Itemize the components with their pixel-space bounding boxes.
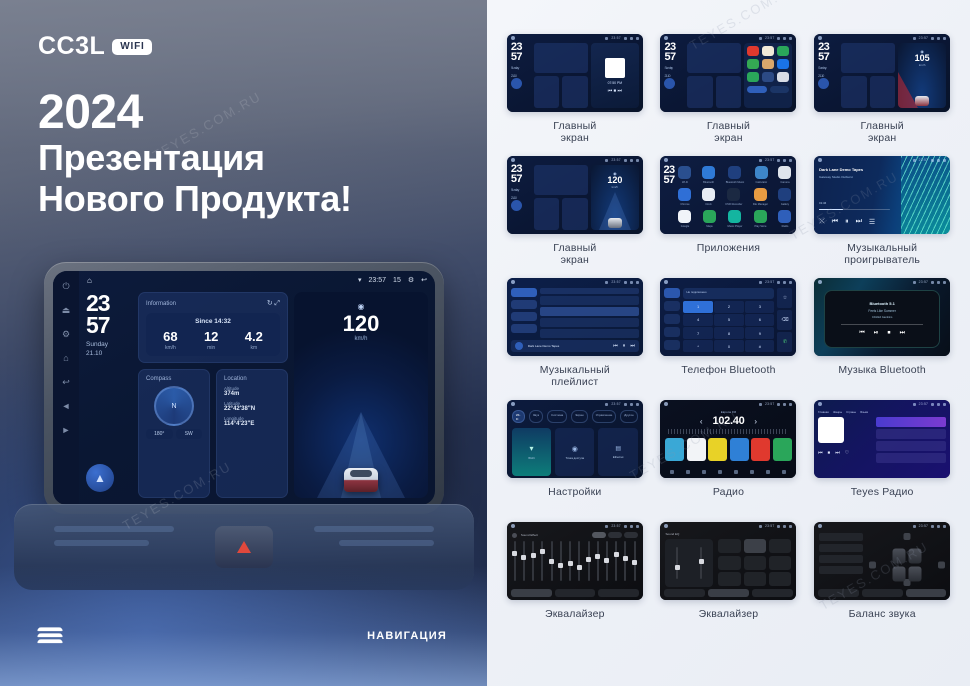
location-card[interactable]	[716, 76, 742, 108]
dialpad-key[interactable]: 2	[714, 301, 743, 313]
information-card[interactable]	[534, 43, 588, 73]
wifi-icon	[759, 525, 762, 528]
screen-thumbnail-settings[interactable]: Wi-Fi Звук Система Экран Управление Друг…	[507, 400, 643, 478]
back-icon	[943, 403, 946, 406]
dialpad-key[interactable]: 6	[745, 314, 774, 326]
next-icon[interactable]: ⏭	[835, 450, 840, 456]
hazard-button[interactable]	[215, 526, 273, 568]
favorite-icon[interactable]: ♡	[845, 450, 849, 456]
volume-down-icon[interactable]: ◄	[61, 401, 72, 412]
tab-system[interactable]: Система	[547, 410, 567, 423]
app-icon-camera[interactable]	[778, 166, 791, 179]
eq-slider[interactable]	[615, 541, 617, 581]
list-item[interactable]	[540, 329, 639, 338]
mode-pills[interactable]	[592, 532, 638, 538]
head-unit-bezel: ⏻ ⏏ ⚙ ⌂ ↩ ◄ ► ⌂ ▾ 23:57 15	[44, 262, 444, 514]
app-icon-bluetooth[interactable]	[702, 166, 715, 179]
thumbnail-caption: Музыкальный проигрыватель	[844, 242, 920, 266]
navigation-arrow-icon[interactable]: ▲	[86, 464, 114, 492]
app-icon-clock[interactable]	[702, 188, 715, 201]
next-station-icon[interactable]: ›	[754, 417, 757, 426]
preset-button[interactable]	[718, 539, 741, 553]
preset-station[interactable]	[687, 438, 706, 461]
gallery-item[interactable]: Bluetooth 5.1 Feels Like Summer Childish…	[812, 278, 952, 396]
compass-direction: SW	[176, 429, 203, 439]
dialpad-key[interactable]: 4	[683, 314, 712, 326]
footer-tab-balance[interactable]	[906, 589, 947, 597]
dialpad-key[interactable]: 0	[714, 340, 743, 352]
tab-controls[interactable]: Управление	[592, 410, 617, 423]
status-time: 23:57	[611, 524, 621, 528]
setting-card-ethernet[interactable]: ▤ Ethernet	[598, 428, 637, 476]
wifi-icon	[759, 281, 762, 284]
scan-icon[interactable]	[750, 470, 754, 474]
preset-station[interactable]	[773, 438, 792, 461]
gear-icon	[630, 159, 633, 162]
preset-button[interactable]	[769, 556, 792, 570]
tab-wifi[interactable]: Wi-Fi	[512, 410, 525, 423]
app-icon[interactable]	[747, 59, 759, 69]
gallery-item[interactable]: Европа FM ‹ 102.40 ›	[659, 400, 799, 518]
app-icon[interactable]	[747, 46, 759, 56]
seat	[893, 566, 906, 581]
location-card[interactable]	[562, 198, 588, 230]
compass-card[interactable]: Compass N 180° SW	[138, 369, 210, 498]
compass-card[interactable]	[841, 76, 867, 108]
sidebar-item-history[interactable]	[664, 327, 680, 337]
speed-widget[interactable]: ◉ 105 km/h	[898, 43, 946, 108]
app-icon-bluetooth-music[interactable]	[728, 166, 741, 179]
eq-slider[interactable]	[523, 541, 525, 581]
next-icon[interactable]: ⏭	[900, 330, 905, 337]
eq-slider[interactable]	[551, 541, 553, 581]
screen-thumbnail-home-apps[interactable]: 23 57 Sunday 21.10	[660, 34, 796, 112]
refresh-icon[interactable]: ↻	[267, 300, 273, 307]
station-list[interactable]	[876, 417, 946, 463]
previous-icon[interactable]: ⏮	[818, 450, 823, 456]
fader-slider[interactable]	[676, 547, 678, 579]
home-icon[interactable]	[818, 280, 822, 284]
screen-thumbnail-applications[interactable]: 23 57 Wi-Fi Bluetooth Bluetooth Music Ca…	[660, 156, 796, 234]
home-icon[interactable]	[511, 280, 515, 284]
headline-year: 2024	[38, 88, 458, 138]
next-icon[interactable]: ⏭	[856, 218, 862, 226]
app-icon-google[interactable]	[678, 210, 691, 223]
nav-item[interactable]: Жанры	[833, 410, 842, 414]
compass-card[interactable]	[687, 76, 713, 108]
play-pause-icon[interactable]: ⏯	[874, 330, 879, 337]
list-icon[interactable]: ☰	[869, 218, 875, 226]
dashboard-vent-panel	[14, 504, 474, 590]
footer-tab-effect[interactable]	[818, 589, 859, 597]
footer-tab-balance[interactable]	[598, 589, 639, 597]
ethernet-icon: ▤	[615, 445, 621, 452]
app-icon-maps[interactable]	[703, 210, 716, 223]
pause-icon[interactable]: ⏸	[845, 218, 849, 226]
speed-widget[interactable]: ◉ 120 km/h	[591, 165, 639, 230]
fader-panel[interactable]	[665, 539, 713, 587]
home-icon[interactable]: ⌂	[87, 276, 92, 285]
status-time: 23:57	[611, 280, 621, 284]
teyes-now-playing: ⏮ ⏹ ⏭ ♡	[818, 417, 872, 463]
mode-pop[interactable]	[592, 532, 606, 538]
preset-button[interactable]	[769, 572, 792, 586]
speed-value: 120	[343, 313, 380, 335]
compass-card[interactable]	[534, 198, 560, 230]
dialpad[interactable]: 1 2 3 4 5 6 7 8 9 * 0 #	[683, 301, 774, 352]
track-time: 07:50 PM	[608, 81, 623, 85]
equalizer-sliders[interactable]	[512, 541, 638, 581]
information-card[interactable]	[687, 43, 741, 73]
next-icon[interactable]: ⏭	[630, 343, 635, 349]
gallery-item[interactable]: Sound EQ	[659, 522, 799, 640]
footer-tab-effect[interactable]	[511, 589, 552, 597]
home-icon[interactable]	[664, 280, 668, 284]
home-icon[interactable]	[511, 524, 515, 528]
volume-up-icon[interactable]: ►	[61, 425, 72, 436]
playback-controls[interactable]: ⤬ ⏮ ⏸ ⏭ ☰	[819, 218, 875, 226]
wifi-icon	[605, 281, 608, 284]
dialpad-key[interactable]: 1	[683, 301, 712, 313]
information-card[interactable]	[534, 165, 588, 195]
frequency-scale[interactable]	[668, 429, 788, 434]
navigation-arrow-icon[interactable]	[818, 78, 829, 89]
screen-thumbnail-equalizer-bands[interactable]: Sound Effect	[507, 522, 643, 600]
list-icon[interactable]	[702, 470, 706, 474]
dock-button[interactable]	[770, 86, 790, 93]
expand-icon[interactable]: ⤢	[274, 300, 280, 307]
status-time: 23:57	[765, 36, 775, 40]
screen-thumbnail-home-media[interactable]: 23 57 Sunday 21.10	[507, 34, 643, 112]
footer-tab-eq[interactable]	[708, 589, 749, 597]
settings-tabs[interactable]: Wi-Fi Звук Система Экран Управление Друг…	[512, 410, 638, 423]
eq-slider[interactable]	[560, 541, 562, 581]
wifi-icon	[605, 525, 608, 528]
eq-slider[interactable]	[588, 541, 590, 581]
app-icon-file-manager[interactable]	[754, 188, 767, 201]
mode-rock[interactable]	[608, 532, 622, 538]
eq-slider[interactable]	[624, 541, 626, 581]
fader-slider[interactable]	[700, 547, 702, 579]
pause-icon[interactable]: ⏸	[623, 343, 626, 349]
sidebar-item-favorites[interactable]	[511, 312, 537, 321]
screen-thumbnail-radio[interactable]: Европа FM ‹ 102.40 ›	[660, 400, 796, 478]
radio-toolbar[interactable]	[664, 468, 792, 475]
list-item[interactable]	[540, 318, 639, 327]
app-icon-music-player[interactable]	[728, 210, 741, 223]
playback-controls[interactable]: ⏮ ⏯ ⏹ ⏭	[859, 330, 905, 337]
gear-icon	[937, 403, 940, 406]
location-card[interactable]	[870, 76, 896, 108]
dialpad-key[interactable]: 7	[683, 327, 712, 339]
volume-icon	[624, 525, 627, 528]
backspace-icon[interactable]: ⌫	[777, 310, 792, 330]
vent-slot	[54, 540, 149, 546]
equalizer-footer[interactable]	[511, 589, 639, 597]
sidebar-item-settings[interactable]	[664, 340, 680, 350]
app-icon-radio[interactable]	[778, 210, 791, 223]
now-playing-bar[interactable]: Dark Lane Demo Tapes ⏮ ⏸ ⏭	[511, 340, 639, 352]
footer-tab-eq[interactable]	[862, 589, 903, 597]
band-icon[interactable]	[670, 470, 674, 474]
stop-icon[interactable]: ⏹	[888, 330, 891, 337]
gallery-item[interactable]: 23 57 Sunday 21.10	[812, 34, 952, 152]
app-icon[interactable]	[777, 46, 789, 56]
shuffle-icon[interactable]: ⤬	[819, 218, 825, 226]
gallery-item[interactable]: Sound Effect	[505, 522, 645, 640]
screen-thumbnail-home-speed[interactable]: 23 57 Sunday 21.10	[507, 156, 643, 234]
seat	[893, 548, 906, 563]
location-card[interactable]: Location Altitude 374m Latitude 22°42'38…	[216, 369, 288, 498]
progress-bar[interactable]	[841, 324, 923, 325]
sidebar-item-search[interactable]	[664, 314, 680, 324]
mode-jazz[interactable]	[624, 532, 638, 538]
home-icon[interactable]	[511, 36, 515, 40]
home-icon[interactable]: ⌂	[61, 353, 72, 364]
tab-sound[interactable]: Звук	[529, 410, 543, 423]
app-icon[interactable]	[762, 59, 774, 69]
rds-icon[interactable]	[734, 470, 738, 474]
eq-slider[interactable]	[532, 541, 534, 581]
seat	[909, 548, 922, 563]
nav-item[interactable]: Страны	[846, 410, 856, 414]
gallery-item[interactable]: 23 57 Sunday 21.10	[659, 34, 799, 152]
gallery-item[interactable]: Главная Жанры Страны Языки ⏮ ⏹	[812, 400, 952, 518]
footer-tab-balance[interactable]	[752, 589, 793, 597]
app-icon-chrome[interactable]	[678, 188, 691, 201]
screen-thumbnail-equalizer-presets[interactable]: Sound EQ	[660, 522, 796, 600]
back-icon	[789, 37, 792, 40]
app-icon-calculator[interactable]	[755, 166, 768, 179]
gear-icon	[937, 281, 940, 284]
screen-thumbnail-home-drive[interactable]: 23 57 Sunday 21.10	[814, 34, 950, 112]
speed-panel[interactable]: ◉ 120 km/h	[294, 292, 428, 498]
dialpad-key[interactable]: 3	[745, 301, 774, 313]
app-shortcuts-widget[interactable]	[744, 43, 792, 108]
preset-button[interactable]	[744, 572, 767, 586]
information-card[interactable]: Information ↻ ⤢ Since 14:32	[138, 292, 288, 363]
power-icon[interactable]: ⏻	[61, 281, 72, 292]
eq-slider[interactable]	[606, 541, 608, 581]
track-subtitle: Gateway Studio Outburst	[819, 175, 898, 179]
eq-slider[interactable]	[578, 541, 580, 581]
app-icon[interactable]	[762, 72, 774, 82]
gallery-item[interactable]: Wi-Fi Звук Система Экран Управление Друг…	[505, 400, 645, 518]
preset-station[interactable]	[751, 438, 770, 461]
preset-station[interactable]	[730, 438, 749, 461]
preset-button[interactable]	[769, 539, 792, 553]
gear-icon	[630, 37, 633, 40]
previous-station-icon[interactable]: ‹	[700, 417, 703, 426]
headline-line1: Презентация	[38, 138, 458, 178]
preset-label: Sound Effect	[521, 533, 538, 537]
home-icon[interactable]	[664, 158, 668, 162]
gallery-item[interactable]: 23 57 Sunday 21.10	[505, 156, 645, 274]
back-icon[interactable]: ↩	[421, 276, 427, 284]
arrow-up-icon[interactable]	[904, 533, 911, 540]
eq-slider[interactable]	[634, 541, 636, 581]
screen-thumbnail-music-bluetooth[interactable]: Bluetooth 5.1 Feels Like Summer Childish…	[814, 278, 950, 356]
eq-slider[interactable]	[541, 541, 543, 581]
eq-slider[interactable]	[569, 541, 571, 581]
apps-row: Google Maps Music Player Play Store Radi…	[678, 210, 791, 228]
volume-icon	[931, 159, 934, 162]
home-icon[interactable]	[818, 524, 822, 528]
compass-card[interactable]	[534, 76, 560, 108]
back-icon	[789, 281, 792, 284]
arrow-right-icon[interactable]	[938, 561, 945, 568]
nav-item[interactable]: Главная	[818, 410, 829, 414]
gallery-item[interactable]: Не подключено 1 2 3 4 5 6 7 8	[659, 278, 799, 396]
home-icon[interactable]	[818, 158, 822, 162]
setting-card-wifi[interactable]: ▾ Wi-Fi	[512, 428, 551, 476]
dock-button[interactable]	[747, 86, 767, 93]
apps-row: Chrome Clock DVR Recorder File Manager G…	[678, 188, 791, 206]
wifi-icon	[913, 37, 916, 40]
app-icon-play-store[interactable]	[754, 210, 767, 223]
gallery-item[interactable]: Dark Lane Demo Tapes ⏮ ⏸ ⏭ 23:57 Музыкал…	[505, 278, 645, 396]
playlist-tabs[interactable]	[540, 288, 639, 294]
media-controls[interactable]: ⏮ ⏹ ⏭	[608, 88, 622, 94]
headline-block: 2024 Презентация Нового Продукта!	[38, 88, 458, 219]
stat-item: 12 min	[204, 330, 218, 351]
eq-slider[interactable]	[597, 541, 599, 581]
back-icon[interactable]: ↩	[61, 377, 72, 388]
favorite-icon[interactable]: ☆	[777, 288, 792, 308]
gallery-item[interactable]: 23 57 Wi-Fi Bluetooth Bluetooth Music Ca…	[659, 156, 799, 274]
app-icon[interactable]	[762, 46, 774, 56]
list-item[interactable]	[876, 429, 946, 439]
app-icon[interactable]	[777, 72, 789, 82]
gallery-item[interactable]: 23:57 Баланс звука	[812, 522, 952, 640]
dialpad-key[interactable]: 5	[714, 314, 743, 326]
previous-icon[interactable]: ⏮	[613, 343, 618, 349]
information-card[interactable]	[841, 43, 895, 73]
teyes-radio-navbar[interactable]: Главная Жанры Страны Языки	[818, 410, 946, 414]
screens-grid: 23 57 Sunday 21.10	[505, 34, 952, 640]
stop-icon[interactable]: ⏹	[828, 450, 831, 456]
longitude-value: 114°4'23"E	[224, 421, 280, 427]
search-icon[interactable]	[686, 470, 690, 474]
dialpad-key[interactable]: 9	[745, 327, 774, 339]
previous-icon[interactable]: ⏮	[832, 218, 838, 226]
side-button-rail[interactable]: ⏻ ⏏ ⚙ ⌂ ↩ ◄ ►	[53, 271, 79, 505]
home-icon[interactable]	[664, 36, 668, 40]
preset-button[interactable]	[744, 556, 767, 570]
preset-station[interactable]	[708, 438, 727, 461]
preset-station[interactable]	[665, 438, 684, 461]
equalizer-footer[interactable]	[664, 589, 792, 597]
thumbnail-caption: Эквалайзер	[699, 608, 759, 620]
sidebar-item-all[interactable]	[511, 300, 537, 309]
equalizer-footer[interactable]	[818, 589, 946, 597]
app-icon-gallery[interactable]	[778, 188, 791, 201]
list-item[interactable]	[876, 453, 946, 463]
call-icon[interactable]: ✆	[777, 332, 792, 352]
home-icon[interactable]	[818, 402, 822, 406]
screen-thumbnail-music-playlist[interactable]: Dark Lane Demo Tapes ⏮ ⏸ ⏭ 23:57	[507, 278, 643, 356]
home-icon[interactable]	[664, 402, 668, 406]
home-icon[interactable]	[511, 402, 515, 406]
balance-stage[interactable]	[869, 533, 945, 596]
eq-slider[interactable]	[514, 541, 516, 581]
media-widget[interactable]: 07:50 PM ⏮ ⏹ ⏭	[591, 43, 639, 108]
app-icon-dvr[interactable]	[727, 188, 740, 201]
list-item[interactable]	[540, 307, 639, 316]
playback-controls[interactable]: ⏮ ⏹ ⏭ ♡	[818, 450, 872, 456]
footer-tab-effect[interactable]	[664, 589, 705, 597]
gear-icon[interactable]	[766, 470, 770, 474]
screen-thumbnail-music-player[interactable]: Dark Lane Demo Tapes Gateway Studio Outb…	[814, 156, 950, 234]
sidebar-item-folders[interactable]	[511, 324, 537, 333]
gallery-item[interactable]: 23 57 Sunday 21.10	[505, 34, 645, 152]
gear-icon	[937, 159, 940, 162]
preset-button[interactable]	[718, 572, 741, 586]
back-icon	[943, 159, 946, 162]
dialpad-key[interactable]: #	[745, 340, 774, 352]
compass-north-label: N	[171, 403, 176, 410]
preset-buttons[interactable]	[718, 539, 791, 587]
album-art	[818, 417, 844, 443]
power-icon[interactable]	[782, 470, 786, 474]
app-icon[interactable]	[777, 59, 789, 69]
preset-button[interactable]	[744, 539, 767, 553]
dialpad-key[interactable]: 8	[714, 327, 743, 339]
navigation-arrow-icon[interactable]	[511, 78, 522, 89]
sidebar-item-tracks[interactable]	[511, 288, 537, 297]
app-icon[interactable]	[747, 72, 759, 82]
stat-value: 68	[163, 330, 177, 343]
home-icon[interactable]	[818, 36, 822, 40]
equalizer-icon[interactable]	[718, 470, 722, 474]
apps-row: Wi-Fi Bluetooth Bluetooth Music Calculat…	[678, 166, 791, 184]
gallery-item[interactable]: Dark Lane Demo Tapes Gateway Studio Outb…	[812, 156, 952, 274]
wifi-icon	[913, 525, 916, 528]
screen-thumbnail-phone-bluetooth[interactable]: Не подключено 1 2 3 4 5 6 7 8	[660, 278, 796, 356]
screen-thumbnail-sound-balance[interactable]: 23:57	[814, 522, 950, 600]
gear-icon[interactable]: ⚙	[61, 329, 72, 340]
tab-other[interactable]: Другое	[620, 410, 638, 423]
screen-thumbnail-teyes-radio[interactable]: Главная Жанры Страны Языки ⏮ ⏹	[814, 400, 950, 478]
station-presets[interactable]	[665, 438, 791, 461]
list-item[interactable]	[876, 417, 946, 427]
preset-button[interactable]	[718, 556, 741, 570]
navigation-arrow-icon[interactable]	[511, 200, 522, 211]
progress-bar[interactable]	[819, 209, 890, 211]
arrow-left-icon[interactable]	[869, 561, 876, 568]
dialpad-key[interactable]: *	[683, 340, 712, 352]
gear-icon[interactable]: ⚙	[408, 276, 414, 284]
list-item[interactable]	[540, 296, 639, 305]
phone-sidebar[interactable]	[664, 288, 680, 352]
footer-tab-eq[interactable]	[555, 589, 596, 597]
navigation-arrow-icon[interactable]	[664, 78, 675, 89]
home-icon[interactable]	[511, 158, 515, 162]
phone-number-input[interactable]: Не подключено	[683, 288, 774, 299]
logo-text: CC3L	[38, 32, 105, 61]
list-item[interactable]	[876, 441, 946, 451]
eject-icon[interactable]: ⏏	[61, 305, 72, 316]
setting-card-hotspot[interactable]: ◉ Точка доступа	[555, 428, 594, 476]
sidebar-item-contacts[interactable]	[664, 301, 680, 311]
home-icon[interactable]	[664, 524, 668, 528]
previous-icon[interactable]: ⏮	[859, 330, 864, 337]
sidebar-item-dialpad[interactable]	[664, 288, 680, 298]
location-card[interactable]	[562, 76, 588, 108]
tab-display[interactable]: Экран	[571, 410, 587, 423]
nav-item[interactable]: Языки	[860, 410, 868, 414]
dialer-actions[interactable]: ☆ ⌫ ✆	[777, 288, 792, 352]
